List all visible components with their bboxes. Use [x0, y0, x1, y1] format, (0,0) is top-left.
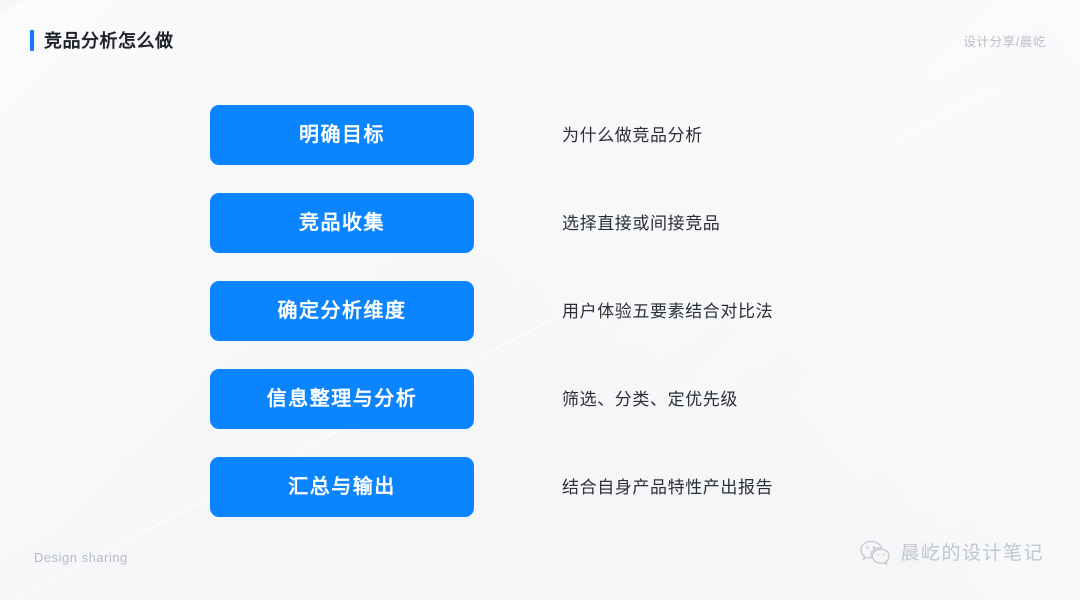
- step-pill-label: 信息整理与分析: [267, 389, 418, 409]
- title-accent-bar: [30, 30, 34, 51]
- wechat-icon: [860, 540, 890, 566]
- header-author-meta: 设计分享/晨屹: [963, 36, 1046, 49]
- page-title-group: 竞品分析怎么做: [30, 30, 174, 51]
- step-description-5: 结合自身产品特性产出报告: [562, 479, 773, 496]
- step-pill-label: 确定分析维度: [278, 301, 407, 321]
- footer-brand-label: 晨屹的设计笔记: [900, 544, 1044, 563]
- step-pill-label: 汇总与输出: [288, 477, 396, 497]
- steps-list: 明确目标 为什么做竞品分析 竞品收集 选择直接或间接竞品 确定分析维度 用户体验…: [210, 105, 970, 517]
- step-description-4: 筛选、分类、定优先级: [562, 391, 738, 408]
- step-description-1: 为什么做竞品分析: [562, 127, 703, 144]
- step-pill-1[interactable]: 明确目标: [210, 105, 474, 165]
- step-pill-4[interactable]: 信息整理与分析: [210, 369, 474, 429]
- footer-brand-group: 晨屹的设计笔记: [860, 540, 1044, 566]
- step-description-3: 用户体验五要素结合对比法: [562, 303, 773, 320]
- step-row: 汇总与输出 结合自身产品特性产出报告: [210, 457, 970, 517]
- step-row: 明确目标 为什么做竞品分析: [210, 105, 970, 165]
- step-row: 确定分析维度 用户体验五要素结合对比法: [210, 281, 970, 341]
- slide-header: 竞品分析怎么做 设计分享/晨屹: [0, 0, 1080, 84]
- step-description-2: 选择直接或间接竞品: [562, 215, 720, 232]
- step-row: 竞品收集 选择直接或间接竞品: [210, 193, 970, 253]
- step-row: 信息整理与分析 筛选、分类、定优先级: [210, 369, 970, 429]
- step-pill-label: 明确目标: [299, 125, 385, 145]
- step-pill-3[interactable]: 确定分析维度: [210, 281, 474, 341]
- step-pill-label: 竞品收集: [299, 213, 385, 233]
- slide-canvas: 竞品分析怎么做 设计分享/晨屹 明确目标 为什么做竞品分析 竞品收集 选择直接或…: [0, 0, 1080, 600]
- step-pill-2[interactable]: 竞品收集: [210, 193, 474, 253]
- page-title: 竞品分析怎么做: [44, 32, 174, 50]
- step-pill-5[interactable]: 汇总与输出: [210, 457, 474, 517]
- footer-design-sharing-label: Design sharing: [34, 551, 128, 564]
